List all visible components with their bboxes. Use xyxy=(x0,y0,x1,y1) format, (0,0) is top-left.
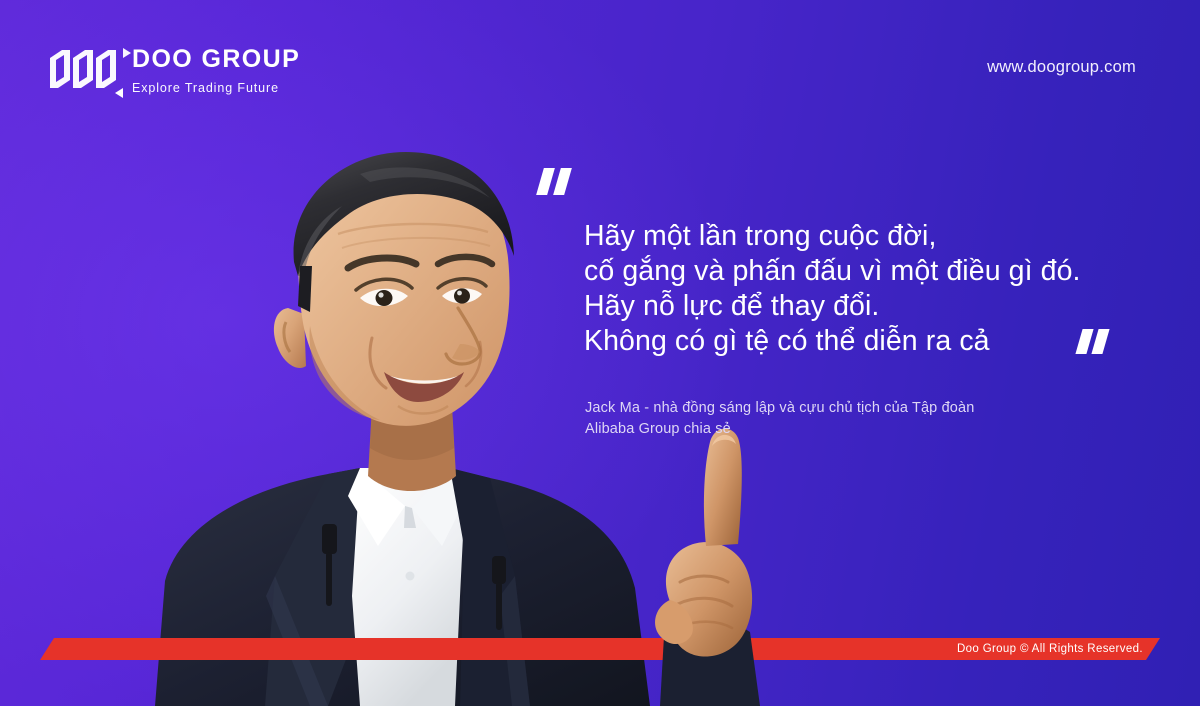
quote-line: cố gắng và phấn đấu vì một điều gì đó. xyxy=(584,254,1176,289)
brand-wordmark-group: DOO GROUP Explore Trading Future xyxy=(132,46,300,95)
website-url[interactable]: www.doogroup.com xyxy=(987,58,1136,77)
footer-copyright: Doo Group © All Rights Reserved. xyxy=(957,643,1143,655)
quote-close-icon xyxy=(1079,329,1111,359)
logo-caret-right-icon xyxy=(123,48,131,58)
quote-open-icon xyxy=(540,168,574,200)
quote-line: Hãy một lần trong cuộc đời, xyxy=(584,219,1176,254)
quote-attribution: Jack Ma - nhà đồng sáng lập và cựu chủ t… xyxy=(585,398,974,440)
brand-name: DOO GROUP xyxy=(132,47,300,72)
poster-canvas: DOO GROUP Explore Trading Future www.doo… xyxy=(0,0,1200,706)
header: DOO GROUP Explore Trading Future www.doo… xyxy=(0,0,1200,140)
attribution-line: Alibaba Group chia sẻ xyxy=(585,419,974,440)
brand-tagline: Explore Trading Future xyxy=(132,81,300,95)
brand-logo[interactable]: DOO GROUP Explore Trading Future xyxy=(48,46,300,95)
quote-line: Hãy nỗ lực để thay đổi. xyxy=(584,289,1176,324)
doo-triple-d-icon xyxy=(48,46,120,90)
tagline-caret-left-icon xyxy=(115,88,123,98)
attribution-line: Jack Ma - nhà đồng sáng lập và cựu chủ t… xyxy=(585,398,974,419)
